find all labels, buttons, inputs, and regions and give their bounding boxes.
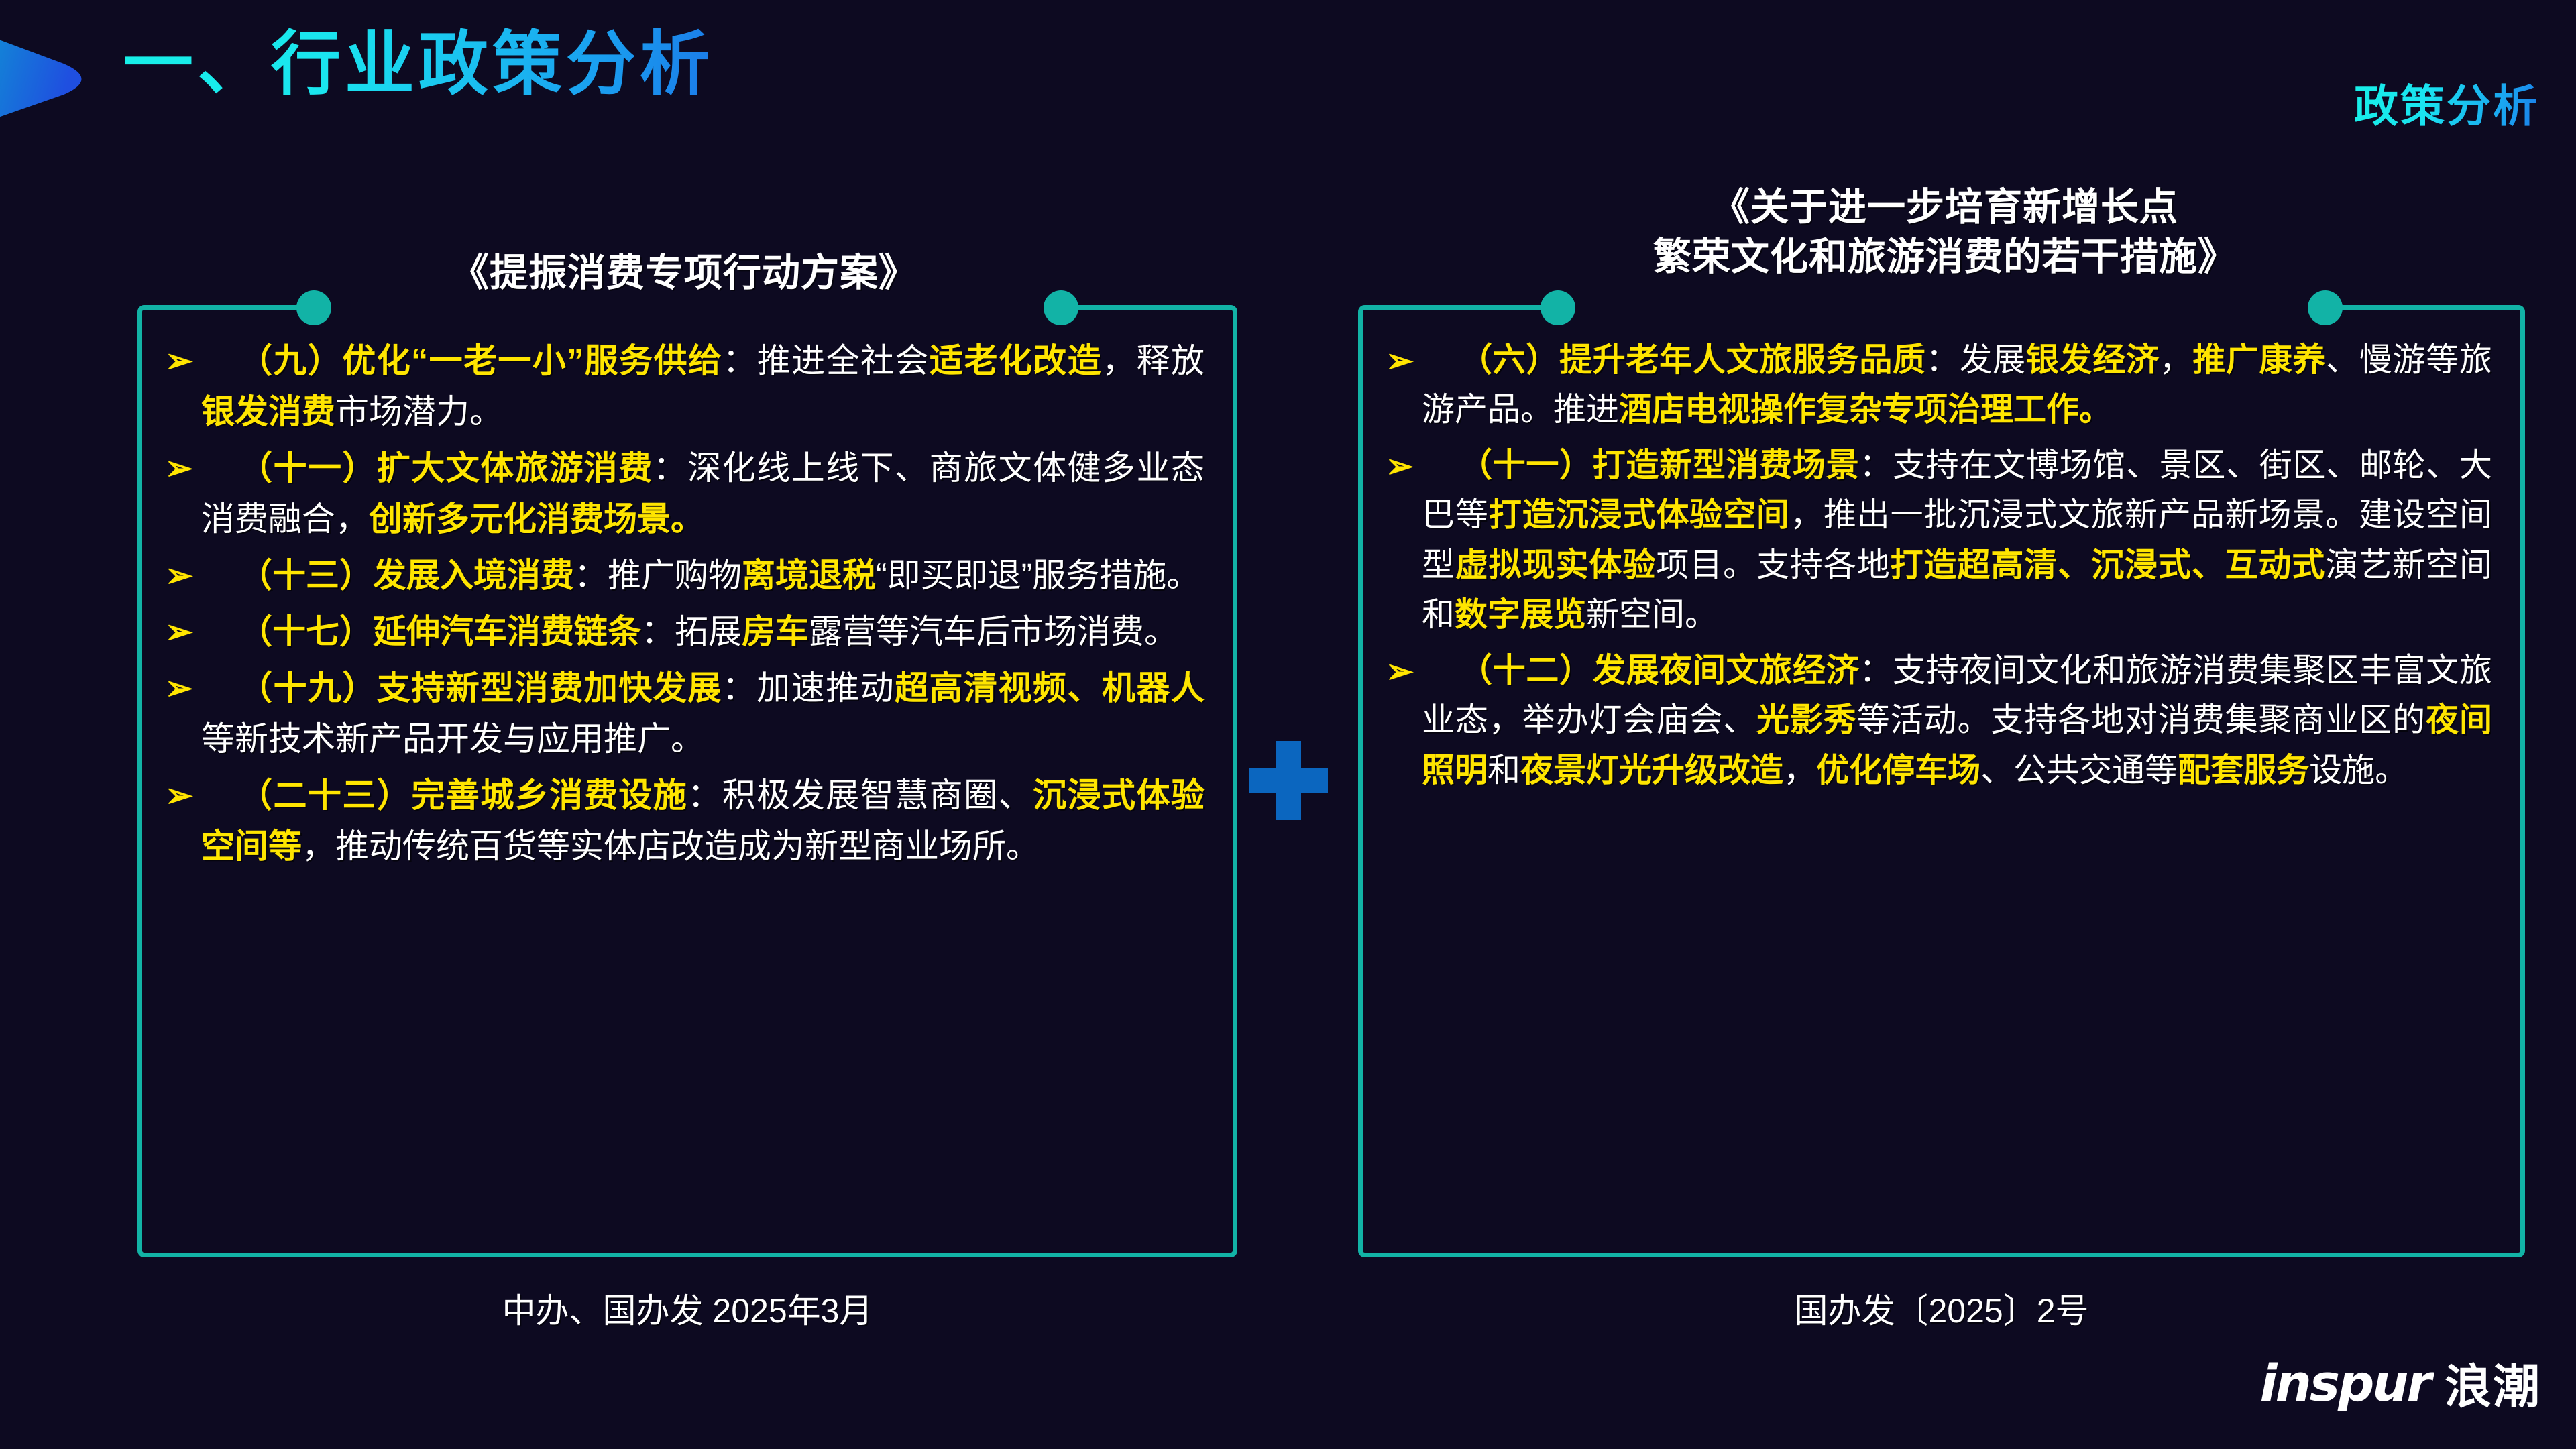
bullet-text: （十九）支持新型消费加快发展：加速推动超高清视频、机器人等新技术新产品开发与应用…: [201, 662, 1205, 764]
bullet-text: （二十三）完善城乡消费设施：积极发展智慧商圈、沉浸式体验空间等，推动传统百货等实…: [201, 770, 1205, 872]
inspur-logo-wordmark: inspur: [2260, 1353, 2430, 1413]
bullet-item: ➢（十一）打造新型消费场景：支持在文博场馆、景区、街区、邮轮、大巴等打造沉浸式体…: [1383, 441, 2492, 640]
bullet-arrow-icon: ➢: [1383, 646, 1422, 697]
plus-icon-vertical-bar: [1276, 741, 1301, 820]
right-card-title-line2: 繁荣文化和旅游消费的若干措施》: [1355, 232, 2535, 282]
left-policy-card: ➢（九）优化“一老一小”服务供给：推进全社会适老化改造，释放银发消费市场潜力。➢…: [137, 305, 1237, 1257]
plus-icon: [1249, 741, 1328, 820]
left-card-bullet-list: ➢（九）优化“一老一小”服务供给：推进全社会适老化改造，释放银发消费市场潜力。➢…: [142, 310, 1233, 1253]
bullet-item: ➢（六）提升老年人文旅服务品质：发展银发经济，推广康养、慢游等旅游产品。推进酒店…: [1383, 335, 2492, 435]
left-card-title: 《提振消费专项行动方案》: [121, 248, 1247, 298]
page-title: 一、行业政策分析: [123, 28, 714, 101]
bullet-item: ➢（二十三）完善城乡消费设施：积极发展智慧商圈、沉浸式体验空间等，推动传统百货等…: [162, 770, 1205, 872]
bullet-arrow-icon: ➢: [162, 662, 201, 713]
right-policy-card: ➢（六）提升老年人文旅服务品质：发展银发经济，推广康养、慢游等旅游产品。推进酒店…: [1358, 305, 2525, 1257]
bullet-item: ➢（十二）发展夜间文旅经济：支持夜间文化和旅游消费集聚区丰富文旅业态，举办灯会庙…: [1383, 646, 2492, 795]
bullet-arrow-icon: ➢: [1383, 335, 1422, 386]
slide-canvas: 一、行业政策分析 政策分析 《提振消费专项行动方案》 《关于进一步培育新增长点 …: [0, 0, 2576, 1449]
bullet-item: ➢（十一）扩大文体旅游消费：深化线上线下、商旅文体健多业态消费融合，创新多元化消…: [162, 443, 1205, 544]
bullet-text: （十一）扩大文体旅游消费：深化线上线下、商旅文体健多业态消费融合，创新多元化消费…: [201, 443, 1205, 544]
bullet-text: （十一）打造新型消费场景：支持在文博场馆、景区、街区、邮轮、大巴等打造沉浸式体验…: [1422, 441, 2492, 640]
bullet-arrow-icon: ➢: [162, 443, 201, 494]
bullet-arrow-icon: ➢: [1383, 441, 1422, 491]
right-card-title-line1: 《关于进一步培育新增长点: [1355, 182, 2535, 232]
bullet-text: （六）提升老年人文旅服务品质：发展银发经济，推广康养、慢游等旅游产品。推进酒店电…: [1422, 335, 2492, 435]
bullet-arrow-icon: ➢: [162, 606, 201, 657]
bullet-text: （十二）发展夜间文旅经济：支持夜间文化和旅游消费集聚区丰富文旅业态，举办灯会庙会…: [1422, 646, 2492, 795]
right-card-bullet-list: ➢（六）提升老年人文旅服务品质：发展银发经济，推广康养、慢游等旅游产品。推进酒店…: [1363, 310, 2520, 1253]
left-card-source: 中办、国办发 2025年3月: [137, 1284, 1237, 1332]
bullet-arrow-icon: ➢: [162, 770, 201, 821]
bullet-arrow-icon: ➢: [162, 335, 201, 386]
bullet-item: ➢（九）优化“一老一小”服务供给：推进全社会适老化改造，释放银发消费市场潜力。: [162, 335, 1205, 437]
corner-chevron-decoration: [0, 0, 114, 154]
right-card-source: 国办发〔2025〕2号: [1358, 1284, 2525, 1332]
bullet-text: （十七）延伸汽车消费链条：拓展房车露营等汽车后市场消费。: [201, 606, 1205, 657]
bullet-text: （九）优化“一老一小”服务供给：推进全社会适老化改造，释放银发消费市场潜力。: [201, 335, 1205, 437]
bullet-text: （十三）发展入境消费：推广购物离境退税“即买即退”服务措施。: [201, 550, 1205, 601]
bullet-item: ➢（十七）延伸汽车消费链条：拓展房车露营等汽车后市场消费。: [162, 606, 1205, 657]
bullet-arrow-icon: ➢: [162, 550, 201, 601]
bullet-item: ➢（十九）支持新型消费加快发展：加速推动超高清视频、机器人等新技术新产品开发与应…: [162, 662, 1205, 764]
section-tag: 政策分析: [2354, 70, 2539, 135]
right-card-title: 《关于进一步培育新增长点 繁荣文化和旅游消费的若干措施》: [1355, 182, 2535, 282]
bullet-item: ➢（十三）发展入境消费：推广购物离境退税“即买即退”服务措施。: [162, 550, 1205, 601]
inspur-logo-chinese: 浪潮: [2445, 1349, 2541, 1417]
inspur-logo: inspur 浪潮: [2260, 1349, 2541, 1417]
